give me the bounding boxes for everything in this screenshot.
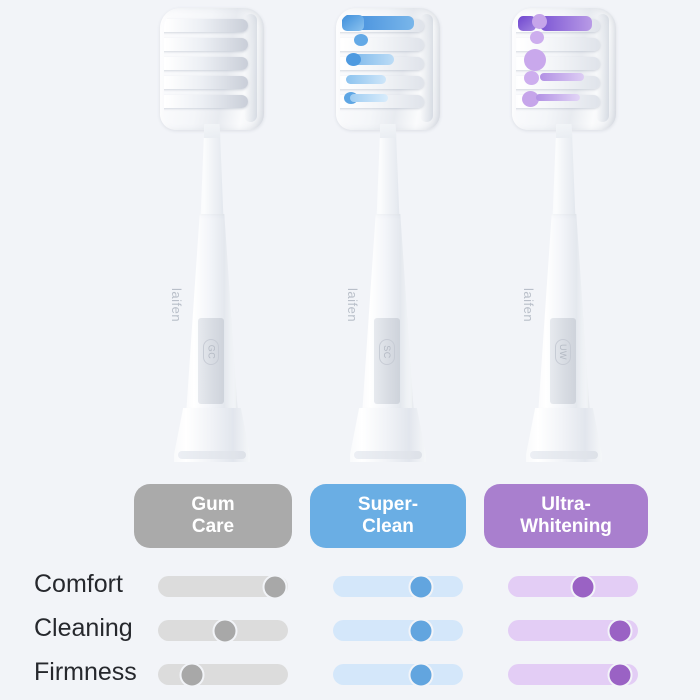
product-name-buttons: Gum Care Super- Clean Ultra- Whitening — [0, 484, 700, 550]
bristle-plate — [340, 13, 428, 123]
brand-wordmark: laifen — [162, 288, 184, 358]
brush-base — [174, 408, 250, 462]
slider-firmness-gum-care[interactable] — [158, 664, 288, 685]
product-button-line1: Super- — [358, 494, 418, 516]
slider-thumb[interactable] — [408, 662, 433, 687]
slider-comfort-super-clean[interactable] — [333, 576, 463, 597]
product-button-ultra-whitening[interactable]: Ultra- Whitening — [484, 484, 648, 548]
product-button-line2: Whitening — [520, 516, 612, 538]
slider-thumb[interactable] — [607, 618, 632, 643]
model-badge-text: SC — [382, 345, 392, 359]
toothbrush-head-gallery: laifen GC laifen — [0, 0, 700, 470]
model-badge-text: GC — [206, 345, 216, 360]
slider-cleaning-ultra-whitening[interactable] — [508, 620, 638, 641]
product-button-line1: Ultra- — [541, 494, 591, 516]
attribute-comparison-table: Comfort Cleaning Firmness — [0, 566, 700, 698]
slider-thumb[interactable] — [408, 574, 433, 599]
model-badge: SC — [379, 339, 395, 365]
slider-thumb[interactable] — [408, 618, 433, 643]
brand-wordmark: laifen — [338, 288, 360, 358]
attribute-label: Comfort — [34, 570, 123, 599]
slider-thumb[interactable] — [213, 618, 238, 643]
slider-thumb[interactable] — [179, 662, 204, 687]
toothbrush-gum-care[interactable]: laifen GC — [124, 0, 300, 468]
attribute-row-cleaning: Cleaning — [0, 610, 700, 654]
brand-wordmark: laifen — [514, 288, 536, 358]
model-badge-text: UW — [558, 344, 568, 360]
brush-base — [350, 408, 426, 462]
brush-base — [526, 408, 602, 462]
toothbrush-ultra-whitening[interactable]: laifen UW — [476, 0, 652, 468]
slider-firmness-super-clean[interactable] — [333, 664, 463, 685]
product-button-gum-care[interactable]: Gum Care — [134, 484, 292, 548]
product-button-line2: Clean — [362, 516, 414, 538]
model-badge: GC — [203, 339, 219, 365]
attribute-label: Cleaning — [34, 614, 133, 643]
brush-neck — [548, 124, 580, 220]
product-button-line1: Gum — [191, 494, 234, 516]
slider-comfort-gum-care[interactable] — [158, 576, 288, 597]
bristle-plate — [516, 13, 604, 123]
slider-thumb[interactable] — [263, 574, 288, 599]
product-button-super-clean[interactable]: Super- Clean — [310, 484, 466, 548]
product-comparison-page: laifen GC laifen — [0, 0, 700, 700]
product-button-line2: Care — [192, 516, 234, 538]
brush-neck — [372, 124, 404, 220]
toothbrush-super-clean[interactable]: laifen SC — [300, 0, 476, 468]
slider-thumb[interactable] — [607, 662, 632, 687]
slider-cleaning-gum-care[interactable] — [158, 620, 288, 641]
slider-comfort-ultra-whitening[interactable] — [508, 576, 638, 597]
slider-firmness-ultra-whitening[interactable] — [508, 664, 638, 685]
slider-thumb[interactable] — [571, 574, 596, 599]
attribute-row-firmness: Firmness — [0, 654, 700, 698]
brush-neck — [196, 124, 228, 220]
attribute-label: Firmness — [34, 658, 137, 687]
model-badge: UW — [555, 339, 571, 365]
bristle-plate — [164, 13, 252, 123]
attribute-row-comfort: Comfort — [0, 566, 700, 610]
slider-cleaning-super-clean[interactable] — [333, 620, 463, 641]
